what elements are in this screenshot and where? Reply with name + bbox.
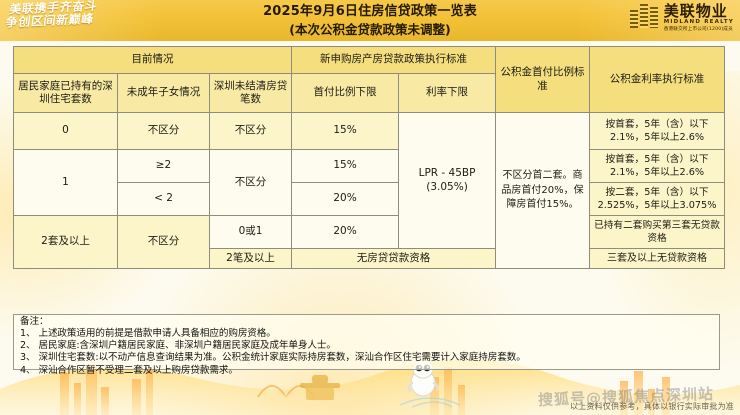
cell-loans-4: 2笔及以上 (210, 249, 292, 269)
cell-no-mortgage-qualification: 无房贷贷款资格 (292, 249, 496, 269)
policy-infographic: 美联携手齐奋斗 争创区间新巅峰 2025年9月6日住房信贷政策一览表 (本次公积… (0, 0, 740, 415)
policy-table-wrapper: 目前情况 新申购房产房贷款政策执行标准 公积金首付比例标准 公积金利率执行标准 … (13, 46, 724, 269)
table-row: 0 不区分 不区分 15% LPR - 45BP (3.05%) 不区分首二套。… (14, 113, 725, 150)
cell-houses-2: 2套及以上 (14, 216, 118, 269)
col-header-minor-children: 未成年子女情况 (118, 74, 210, 113)
notes-box: 备注： 1、 上述政策适用的前提是借款申请人具备相应的购房资格。 2、 居民家庭… (13, 314, 720, 370)
cell-lpr-rate-merged: LPR - 45BP (3.05%) (399, 113, 496, 249)
notes-title: 备注： (20, 316, 715, 328)
cell-children-0: 不区分 (118, 113, 210, 150)
cell-downpayment-0: 15% (292, 113, 399, 150)
cell-loans-0: 不区分 (210, 113, 292, 150)
note-item-2: 2、 居民家庭:含深圳户籍居民家庭、非深圳户籍居民家庭及成年单身人士。 (20, 340, 715, 352)
table-row: 1 ≥2 不区分 15% 按首套，5年（含）以下2.1%，5年以上2.6% (14, 150, 725, 183)
group-header-fund-rate: 公积金利率执行标准 (590, 47, 725, 113)
midland-bars-logo-icon (630, 4, 660, 28)
table-row: < 2 20% 按二套，5年（含）以下2.525%，5年以上3.075% (14, 183, 725, 216)
cell-fund-rate-1: 按首套，5年（含）以下2.1%，5年以上2.6% (590, 150, 725, 183)
cell-children-3: 不区分 (118, 216, 210, 269)
table-row: 2套及以上 不区分 0或1 20% 已持有二套购买第三套无贷款资格 (14, 216, 725, 249)
note-item-1: 1、 上述政策适用的前提是借款申请人具备相应的购房资格。 (20, 328, 715, 340)
logo-listing-note: 香港联交所上市公司(1200)成员 (664, 28, 734, 33)
cell-fund-rate-4: 三套及以上无贷款资格 (590, 249, 725, 269)
housing-credit-policy-table: 目前情况 新申购房产房贷款政策执行标准 公积金首付比例标准 公积金利率执行标准 … (13, 46, 725, 269)
midland-logo: 美联物业 MIDLAND REALTY 香港联交所上市公司(1200)成员 (630, 4, 734, 38)
page-title: 2025年9月6日住房信贷政策一览表 (本次公积金贷款政策未调整) (170, 3, 570, 38)
cell-downpayment-3: 20% (292, 216, 399, 249)
note-item-4: 4、 深汕合作区暂不受理二套及以上购房贷款需求。 (20, 365, 715, 377)
cell-loans-3: 0或1 (210, 216, 292, 249)
cell-houses-1: 1 (14, 150, 118, 216)
lpr-value: LPR - 45BP (419, 167, 476, 179)
cell-houses-0: 0 (14, 113, 118, 150)
col-header-min-downpayment: 首付比例下限 (292, 74, 399, 113)
col-header-houses-held: 居民家庭已持有的深圳住宅套数 (14, 74, 118, 113)
cell-children-2: < 2 (118, 183, 210, 216)
cell-loans-1: 不区分 (210, 150, 292, 216)
logo-text: 美联物业 MIDLAND REALTY 香港联交所上市公司(1200)成员 (664, 4, 734, 32)
cell-downpayment-2: 20% (292, 183, 399, 216)
group-header-fund-downpayment: 公积金首付比例标准 (496, 47, 590, 113)
logo-name-en: MIDLAND REALTY (664, 20, 734, 26)
title-line-2: (本次公积金贷款政策未调整) (170, 21, 570, 38)
cell-fund-downpayment-merged: 不区分首二套。商品房首付20%，保障房首付15%。 (496, 113, 590, 269)
note-item-3: 3、 深圳住宅套数:以不动产信息查询结果为准。公积金统计家庭实际持房套数，深汕合… (20, 352, 715, 364)
lpr-sub: (3.05%) (426, 181, 468, 193)
group-header-new-loan-standard: 新申购房产房贷款政策执行标准 (292, 47, 496, 74)
calligraphy-slogan: 美联携手齐奋斗 争创区间新巅峰 (3, 0, 128, 41)
cell-children-1: ≥2 (118, 150, 210, 183)
title-line-1: 2025年9月6日住房信贷政策一览表 (170, 3, 570, 21)
group-header-current-status: 目前情况 (14, 47, 292, 74)
col-header-outstanding-loans: 深圳未结清房贷笔数 (210, 74, 292, 113)
cell-fund-rate-0: 按首套，5年（含）以下2.1%，5年以上2.6% (590, 113, 725, 150)
header-band: 美联携手齐奋斗 争创区间新巅峰 2025年9月6日住房信贷政策一览表 (本次公积… (0, 0, 740, 41)
logo-name-cn: 美联物业 (664, 4, 734, 19)
cell-fund-rate-2: 按二套，5年（含）以下2.525%，5年以上3.075% (590, 183, 725, 216)
table-group-header-row: 目前情况 新申购房产房贷款政策执行标准 公积金首付比例标准 公积金利率执行标准 (14, 47, 725, 74)
cell-fund-rate-3: 已持有二套购买第三套无贷款资格 (590, 216, 725, 249)
col-header-min-rate: 利率下限 (399, 74, 496, 113)
cell-downpayment-1: 15% (292, 150, 399, 183)
